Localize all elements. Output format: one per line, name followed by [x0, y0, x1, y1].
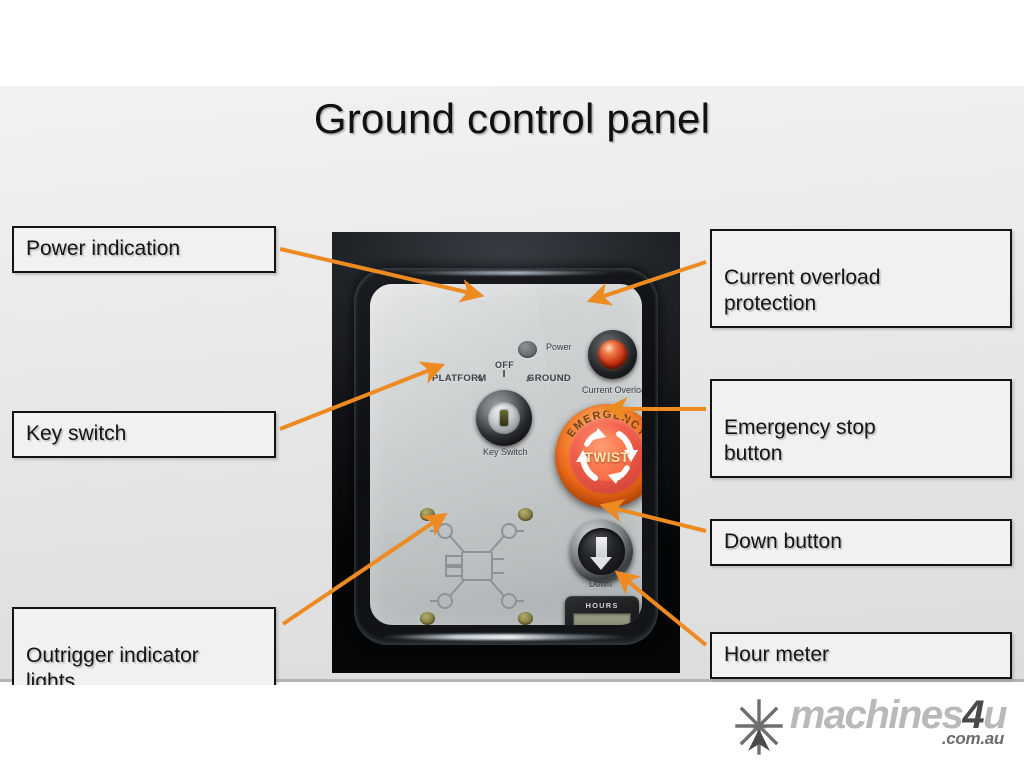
- callout-current-overload-protection-text: Current overload protection: [724, 266, 880, 315]
- down-button[interactable]: [570, 520, 633, 583]
- down-button-label: Down: [589, 579, 612, 589]
- logo-machines-text: machines: [790, 693, 963, 737]
- callout-power-indication: Power indication: [12, 226, 276, 273]
- callout-hour-meter: Hour meter: [710, 632, 1012, 679]
- panel-frame: Power OFF PLATFORM GROUND Key Switch Cur…: [354, 268, 658, 645]
- starburst-icon: [732, 699, 786, 757]
- callout-key-switch: Key switch: [12, 411, 276, 458]
- key-slot-icon: [500, 410, 508, 426]
- callout-hour-meter-text: Hour meter: [724, 643, 829, 666]
- outrigger-led-rear-right: [518, 612, 533, 625]
- emergency-stop-button[interactable]: EMERGENCY STOP: [555, 404, 642, 508]
- callout-emergency-stop-button-text: Emergency stop button: [724, 416, 876, 465]
- faceplate-gloss: [370, 284, 567, 535]
- emergency-stop-twist-label: TWIST: [555, 450, 642, 465]
- down-arrow-icon: [596, 537, 607, 559]
- current-overload-label: Current Overload: [582, 385, 642, 395]
- frame-highlight-bottom: [380, 634, 632, 640]
- hour-meter-display: [573, 613, 631, 625]
- key-switch[interactable]: [476, 390, 532, 446]
- outrigger-schematic-icon: [412, 506, 540, 625]
- outrigger-led-front-right: [518, 508, 533, 521]
- machines4u-logo: machines4u .com.au: [732, 695, 1006, 757]
- panel-faceplate: Power OFF PLATFORM GROUND Key Switch Cur…: [370, 284, 642, 625]
- footer: machines4u .com.au: [0, 685, 1024, 768]
- logo-domain-text: .com.au: [942, 729, 1004, 749]
- callout-current-overload-protection: Current overload protection: [710, 229, 1012, 328]
- logo-wordmark: machines4u .com.au: [790, 695, 1006, 735]
- callout-emergency-stop-button: Emergency stop button: [710, 379, 1012, 478]
- callout-power-indication-text: Power indication: [26, 237, 180, 260]
- power-label: Power: [546, 342, 572, 352]
- callout-key-switch-text: Key switch: [26, 422, 126, 445]
- callout-down-button-text: Down button: [724, 530, 842, 553]
- outrigger-led-front-left: [420, 508, 435, 521]
- key-switch-ground-label: GROUND: [527, 373, 571, 384]
- frame-highlight-top: [394, 271, 618, 275]
- control-panel-photo: Power OFF PLATFORM GROUND Key Switch Cur…: [332, 232, 680, 673]
- hour-meter-title: HOURS: [565, 601, 639, 610]
- key-switch-tick-off: [503, 370, 505, 377]
- current-overload-button[interactable]: [588, 330, 637, 379]
- key-switch-off-label: OFF: [495, 360, 514, 370]
- hour-meter: HOURS h1/10: [565, 596, 639, 625]
- page-title: Ground control panel: [0, 95, 1024, 143]
- key-switch-label: Key Switch: [483, 447, 528, 457]
- power-indicator-led: [518, 341, 537, 358]
- outrigger-indicator-diagram: [412, 506, 540, 625]
- outrigger-led-rear-left: [420, 612, 435, 625]
- slide: Ground control panel Power OFF PLATFORM …: [0, 0, 1024, 768]
- callout-down-button: Down button: [710, 519, 1012, 566]
